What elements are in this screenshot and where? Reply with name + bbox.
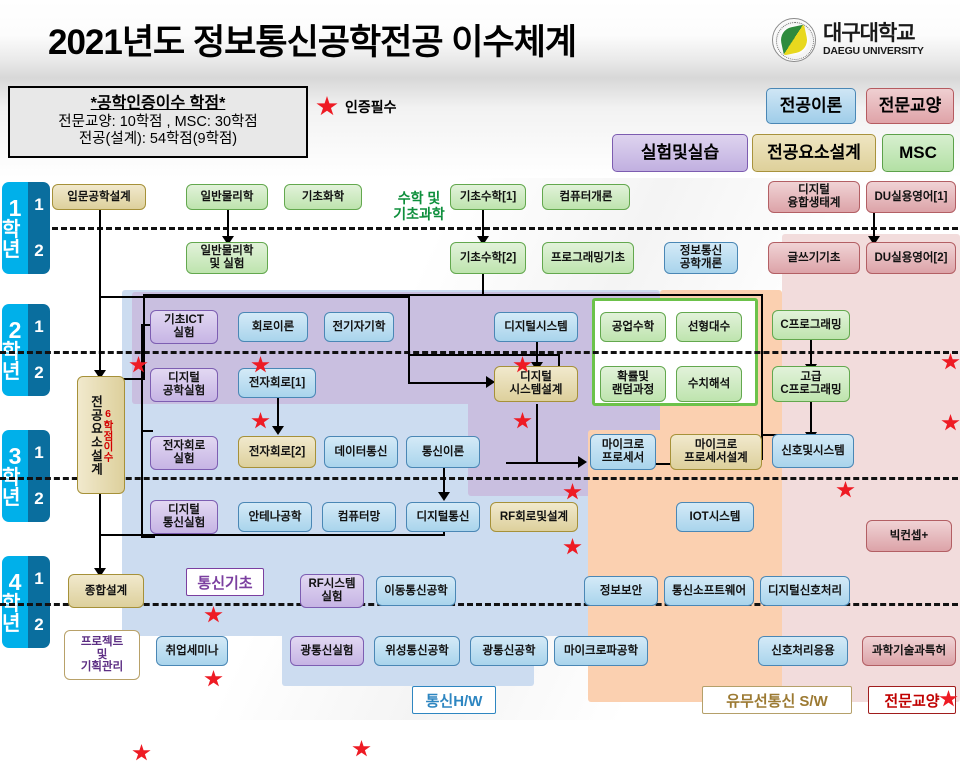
course-label-c46: 디지털신호처리 [768,585,842,598]
line-digsysdesign-down [536,404,538,464]
course-c12[interactable]: 글쓰기기초 [768,242,860,274]
course-c03[interactable]: 기초화학 [284,184,362,210]
line-advanced-to-signal [810,402,812,436]
math-science-label: 수학 및 기초과학 [374,190,464,222]
semester-3-2: 2 [34,489,43,509]
star-icon [316,96,338,117]
course-label-c32: 마이크로 프로세서설계 [684,439,747,465]
course-c20[interactable]: C프로그래밍 [772,310,850,340]
course-label-c06: 디지털 융합생태계 [788,184,841,210]
course-label-c02: 일반물리학 [201,191,254,204]
line-feed-digsysdesign-h [408,354,560,356]
course-c19[interactable]: 선형대수 [676,312,742,342]
arrow-commtheory-to-digcomm [438,492,450,501]
course-label-c18: 공업수학 [612,321,654,334]
math-science-line-2: 기초과학 [374,206,464,222]
year-cell-1: 1 학년 [2,182,28,274]
semester-1-1: 1 [34,195,43,215]
line-intro-branch-down [408,296,410,356]
element-design-credit: 6학점이수 [103,408,114,462]
course-label-c21: 디지털 공학실험 [163,372,205,398]
line-math2-horizontal [143,294,763,296]
course-label-c43: 이동통신공학 [384,585,447,598]
course-label-c22: 전자회로[1] [249,377,305,390]
course-label-c08: 일반물리학 및 실험 [201,245,254,271]
course-c08[interactable]: 일반물리학 및 실험 [186,242,268,274]
course-c25[interactable]: 수치해석 [676,366,742,402]
course-c11[interactable]: 정보통신 공학개론 [664,242,738,274]
course-label-c42: RF시스템 실험 [308,578,355,604]
course-c52[interactable]: 마이크로파공학 [554,636,648,666]
course-c22[interactable]: 전자회로[1] [238,368,316,398]
year-label-3: 학년 [2,468,28,508]
course-label-c44: 정보보안 [600,585,642,598]
daegu-university-emblem-icon [772,18,816,62]
semester-3-1: 1 [34,443,43,463]
course-c46[interactable]: 디지털신호처리 [760,576,850,606]
semester-cell-3: 1 2 [28,430,50,522]
line-feed-digsysdesign-v [408,354,410,384]
course-label-c28: 전자회로[2] [249,446,305,459]
course-c40[interactable]: 빅컨셉+ [866,520,952,552]
course-c54[interactable]: 과학기술과특허 [862,636,956,666]
line-math2-down [482,274,484,296]
course-c43[interactable]: 이동통신공학 [376,576,456,606]
course-c29[interactable]: 데이터통신 [324,436,398,468]
course-label-c24: 확률및 랜덤과정 [612,371,654,397]
credit-line-2: 전문교양: 10학점 , MSC: 30학점 [58,114,257,131]
semester-4-2: 2 [34,615,43,635]
course-label-c45: 통신소프트웨어 [672,585,746,598]
semester-cell-2: 1 2 [28,304,50,396]
course-c06[interactable]: 디지털 융합생태계 [768,181,860,213]
line-element-bracket-t2 [141,430,153,432]
panel-liberal-arts [782,234,960,702]
semester-1-2: 2 [34,241,43,261]
course-c23[interactable]: 디지털 시스템설계 [494,366,578,402]
year-cell-3: 3 학년 [2,430,28,522]
semester-cell-1: 1 2 [28,182,50,274]
star-legend: 인증필수 [316,96,397,117]
course-label-c13: DU실용영어[2] [875,252,948,265]
course-c10[interactable]: 프로그래밍기초 [542,242,634,274]
line-intro-to-element [99,210,101,374]
course-c05[interactable]: 컴퓨터개론 [542,184,630,210]
course-label-c49: 광통신실험 [301,645,354,658]
page-header: 2021년도 정보통신공학전공 이수체계 대구대학교 DAEGU UNIVERS… [0,0,960,78]
star-icon-c41 [132,744,151,762]
year-label-1: 학년 [2,220,28,260]
element-design-box[interactable]: 전공요소설계 6학점이수 [77,376,125,494]
year-number-4: 4 [9,571,22,594]
course-label-c53: 신호처리응용 [771,645,834,658]
legend-chip-msc: MSC [882,134,954,172]
course-c34[interactable]: 디지털 통신실험 [150,500,218,534]
group-label-sw: 유무선통신 S/W [702,686,852,714]
course-label-c23: 디지털 시스템설계 [510,371,563,397]
course-c33[interactable]: 신호및시스템 [772,434,854,468]
year-cell-2: 2 학년 [2,304,28,396]
semester-cell-4: 1 2 [28,556,50,648]
course-c01[interactable]: 입문공학설계 [52,184,146,210]
course-label-c50: 위성통신공학 [385,645,448,658]
course-c39[interactable]: IOT시스템 [676,502,754,532]
course-label-c54: 과학기술과특허 [872,645,946,658]
course-c48[interactable]: 취업세미나 [156,636,228,666]
semester-2-1: 1 [34,317,43,337]
course-label-c41: 종합설계 [85,585,127,598]
course-c36[interactable]: 컴퓨터망 [322,502,396,532]
course-label-c03: 기초화학 [302,191,344,204]
course-c49[interactable]: 광통신실험 [290,636,364,666]
course-c26[interactable]: 고급 C프로그래밍 [772,366,850,402]
year-label-4: 학년 [2,594,28,634]
group-label-liberal: 전문교양 [868,686,956,714]
course-c32[interactable]: 마이크로 프로세서설계 [670,434,762,470]
course-label-c01: 입문공학설계 [67,191,130,204]
course-label-c09: 기초수학[2] [460,252,516,265]
course-label-c35: 안테나공학 [249,511,302,524]
star-icon-c34 [204,670,223,688]
course-label-c17: 디지털시스템 [504,321,567,334]
legend-chip-lab: 실험및실습 [612,134,748,172]
course-c45[interactable]: 통신소프트웨어 [664,576,754,606]
credit-title: *공학인증이수 학점* [91,95,226,114]
line-to-micro-h2 [506,462,582,464]
course-c51[interactable]: 광통신공학 [470,636,548,666]
course-label-c11: 정보통신 공학개론 [680,245,722,271]
star-icon-c42 [352,740,371,758]
course-c41[interactable]: 종합설계 [68,574,144,608]
legend-chip-theory: 전공이론 [766,88,856,124]
course-c35[interactable]: 안테나공학 [238,502,312,532]
line-element-to-capstone [99,488,101,572]
course-label-c14: 기초ICT 실험 [164,314,204,340]
course-c38[interactable]: RF회로및설계 [490,502,578,532]
course-label-c37: 디지털통신 [417,511,470,524]
course-label-c33: 신호및시스템 [781,445,844,458]
course-label-c27: 전자회로 실험 [163,440,205,466]
course-label-c47: 프로젝트 및 기획관리 [81,636,123,675]
course-c16[interactable]: 전기자기학 [324,312,394,342]
logo-name-kr: 대구대학교 [823,23,924,44]
course-c17[interactable]: 디지털시스템 [494,312,578,342]
course-c44[interactable]: 정보보안 [584,576,658,606]
course-c37[interactable]: 디지털통신 [406,502,480,532]
legend-chip-design: 전공요소설계 [752,134,876,172]
course-label-c16: 전기자기학 [333,321,386,334]
year-number-1: 1 [9,197,22,220]
year-number-2: 2 [9,319,22,342]
course-label-c30: 통신이론 [422,446,464,459]
course-label-c40: 빅컨셉+ [890,530,928,543]
semester-2-2: 2 [34,363,43,383]
course-label-c26: 고급 C프로그래밍 [780,371,841,397]
group-label-hw: 통신H/W [412,686,496,714]
course-label-c52: 마이크로파공학 [564,645,638,658]
arrow-to-micro [578,456,587,468]
course-c18[interactable]: 공업수학 [600,312,666,342]
semester-divider-1 [52,227,958,230]
star-legend-label: 인증필수 [345,97,397,117]
course-c47[interactable]: 프로젝트 및 기획관리 [64,630,140,680]
year-number-3: 3 [9,445,22,468]
course-c50[interactable]: 위성통신공학 [374,636,460,666]
line-element-bracket-t3 [141,536,155,538]
course-c13[interactable]: DU실용영어[2] [866,242,956,274]
course-label-c25: 수치해석 [688,378,730,391]
year-cell-4: 4 학년 [2,556,28,648]
semester-divider-3 [0,477,958,480]
course-label-c04: 기초수학[1] [460,191,516,204]
course-label-c19: 선형대수 [688,321,730,334]
math-science-line-1: 수학 및 [374,190,464,206]
course-c53[interactable]: 신호처리응용 [758,636,848,666]
course-c09[interactable]: 기초수학[2] [450,242,526,274]
arrow-circuit1-to-2 [272,426,284,435]
year-label-2: 학년 [2,342,28,382]
course-c21[interactable]: 디지털 공학실험 [150,368,218,402]
course-c30[interactable]: 통신이론 [406,436,480,468]
course-label-c29: 데이터통신 [335,446,388,459]
course-c02[interactable]: 일반물리학 [186,184,268,210]
university-logo: 대구대학교 DAEGU UNIVERSITY [772,18,924,62]
course-label-c12: 글쓰기기초 [788,252,841,265]
logo-name-en: DAEGU UNIVERSITY [823,46,924,57]
course-c24[interactable]: 확률및 랜덤과정 [600,366,666,402]
course-c31[interactable]: 마이크로 프로세서 [590,434,656,470]
course-label-c07: DU실용영어[1] [875,191,948,204]
course-c27[interactable]: 전자회로 실험 [150,436,218,470]
course-label-c48: 취업세미나 [166,645,219,658]
course-c28[interactable]: 전자회로[2] [238,436,316,468]
credit-requirement-box: *공학인증이수 학점* 전문교양: 10학점 , MSC: 30학점 전공(설계… [8,86,308,158]
course-c15[interactable]: 회로이론 [238,312,308,342]
course-label-c05: 컴퓨터개론 [560,191,613,204]
group-label-basic: 통신기초 [186,568,264,596]
curriculum-grid: 1 학년 1 2 2 학년 1 2 3 학년 1 2 4 학년 1 2 [0,178,960,720]
course-label-c34: 디지털 통신실험 [163,504,205,530]
course-label-c39: IOT시스템 [690,511,741,524]
course-c14[interactable]: 기초ICT 실험 [150,310,218,344]
line-feed-digsysdesign-h2 [408,382,490,384]
course-label-c31: 마이크로 프로세서 [602,439,644,465]
course-label-c38: RF회로및설계 [500,511,568,524]
course-label-c20: C프로그래밍 [780,319,841,332]
semester-4-1: 1 [34,569,43,589]
course-c42[interactable]: RF시스템 실험 [300,574,364,608]
element-design-label: 전공요소설계 [89,395,102,476]
course-c07[interactable]: DU실용영어[1] [866,181,956,213]
page-title: 2021년도 정보통신공학전공 이수체계 [48,14,576,65]
legend-chip-liberal: 전문교양 [866,88,954,124]
course-label-c51: 광통신공학 [483,645,536,658]
credit-line-3: 전공(설계): 54학점(9학점) [79,131,237,148]
course-label-c36: 컴퓨터망 [338,511,380,524]
course-label-c15: 회로이론 [252,321,294,334]
course-label-c10: 프로그래밍기초 [551,252,625,265]
